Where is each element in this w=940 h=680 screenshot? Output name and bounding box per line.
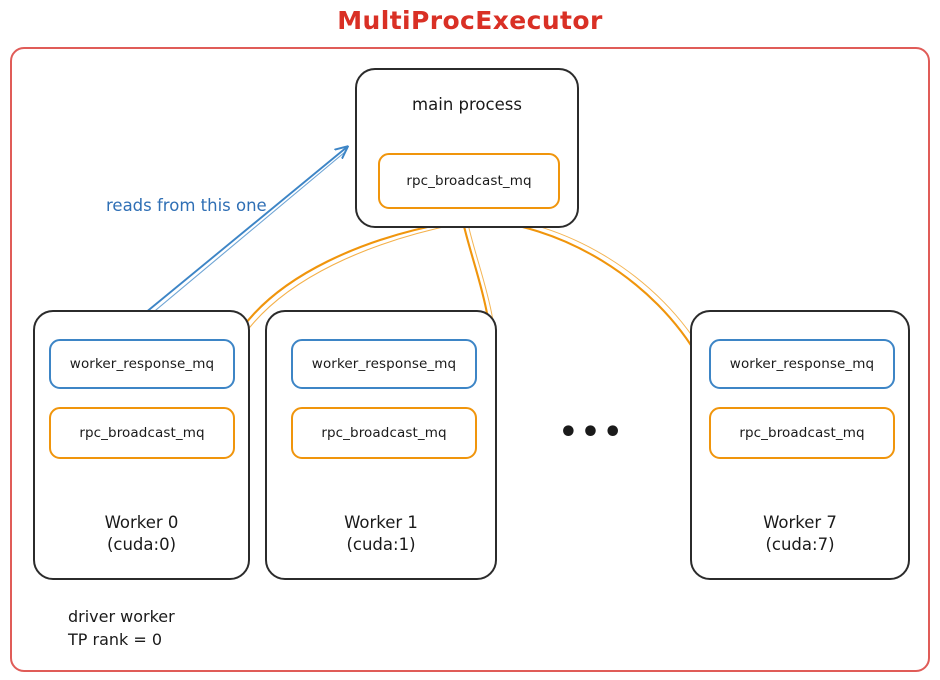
worker-0-worker-response-mq[interactable]: worker_response_mq [49,339,235,389]
worker-7-worker-response-mq[interactable]: worker_response_mq [709,339,895,389]
worker-box-1[interactable]: worker_response_mq rpc_broadcast_mq Work… [265,310,497,580]
main-process-rpc-broadcast-mq[interactable]: rpc_broadcast_mq [378,153,560,209]
worker-7-rpc-broadcast-mq[interactable]: rpc_broadcast_mq [709,407,895,459]
workers-ellipsis: ••• [552,418,632,448]
worker-7-label: Worker 7 (cuda:7) [692,512,908,556]
worker-1-label: Worker 1 (cuda:1) [267,512,495,556]
worker-0-rpc-broadcast-mq[interactable]: rpc_broadcast_mq [49,407,235,459]
worker-1-rpc-broadcast-mq[interactable]: rpc_broadcast_mq [291,407,477,459]
page-title: MultiProcExecutor [0,6,940,35]
worker-1-worker-response-mq[interactable]: worker_response_mq [291,339,477,389]
reads-from-this-one-label: reads from this one [106,196,267,215]
main-process-label: main process [357,94,577,116]
worker-box-0[interactable]: worker_response_mq rpc_broadcast_mq Work… [33,310,250,580]
main-process-box[interactable]: main process rpc_broadcast_mq [355,68,579,228]
worker-0-label: Worker 0 (cuda:0) [35,512,248,556]
driver-worker-footnote: driver worker TP rank = 0 [68,605,175,651]
worker-box-7[interactable]: worker_response_mq rpc_broadcast_mq Work… [690,310,910,580]
